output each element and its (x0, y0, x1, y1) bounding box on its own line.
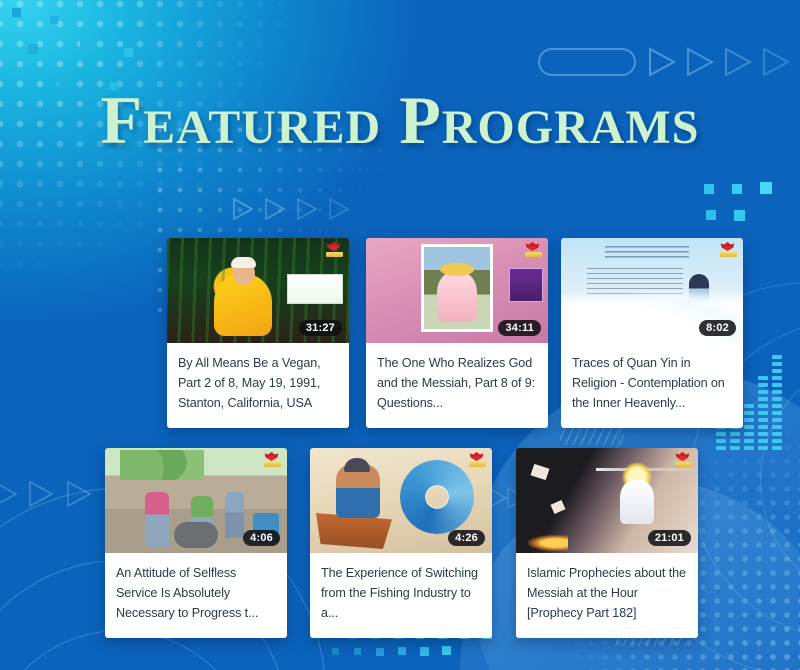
duration-badge-1: 31:27 (299, 320, 342, 336)
program-title-3: Traces of Quan Yin in Religion - Contemp… (561, 343, 743, 428)
channel-logo-icon-3 (720, 242, 737, 261)
program-title-2: The One Who Realizes God and the Messiah… (366, 343, 548, 428)
program-title-6: Islamic Prophecies about the Messiah at … (516, 553, 698, 638)
thumbnail-5[interactable]: 4:26 (310, 448, 492, 553)
program-title-5: The Experience of Switching from the Fis… (310, 553, 492, 638)
program-title-1: By All Means Be a Vegan, Part 2 of 8, Ma… (167, 343, 349, 428)
thumbnail-6[interactable]: 21:01 (516, 448, 698, 553)
thumbnail-1[interactable]: 31:27 (167, 238, 349, 343)
thumbnail-2[interactable]: 34:11 (366, 238, 548, 343)
program-title-4: An Attitude of Selfless Service Is Absol… (105, 553, 287, 638)
channel-logo-icon-1 (326, 242, 343, 261)
program-card-5[interactable]: 4:26 The Experience of Switching from th… (310, 448, 492, 638)
thumbnail-3[interactable]: 8:02 (561, 238, 743, 343)
program-card-2[interactable]: 34:11 The One Who Realizes God and the M… (366, 238, 548, 428)
program-card-1[interactable]: 31:27 By All Means Be a Vegan, Part 2 of… (167, 238, 349, 428)
duration-badge-6: 21:01 (648, 530, 691, 546)
program-card-4[interactable]: 4:06 An Attitude of Selfless Service Is … (105, 448, 287, 638)
duration-badge-3: 8:02 (699, 320, 736, 336)
program-card-6[interactable]: 21:01 Islamic Prophecies about the Messi… (516, 448, 698, 638)
channel-logo-icon-4 (264, 452, 281, 471)
channel-logo-icon-6 (675, 452, 692, 471)
program-card-3[interactable]: 8:02 Traces of Quan Yin in Religion - Co… (561, 238, 743, 428)
programs-grid: 31:27 By All Means Be a Vegan, Part 2 of… (0, 0, 800, 670)
thumbnail-4[interactable]: 4:06 (105, 448, 287, 553)
duration-badge-5: 4:26 (448, 530, 485, 546)
channel-logo-icon-2 (525, 242, 542, 261)
duration-badge-4: 4:06 (243, 530, 280, 546)
channel-logo-icon-5 (469, 452, 486, 471)
featured-programs-banner: Featured Programs 31:27 By All Means Be … (0, 0, 800, 670)
duration-badge-2: 34:11 (498, 320, 541, 336)
